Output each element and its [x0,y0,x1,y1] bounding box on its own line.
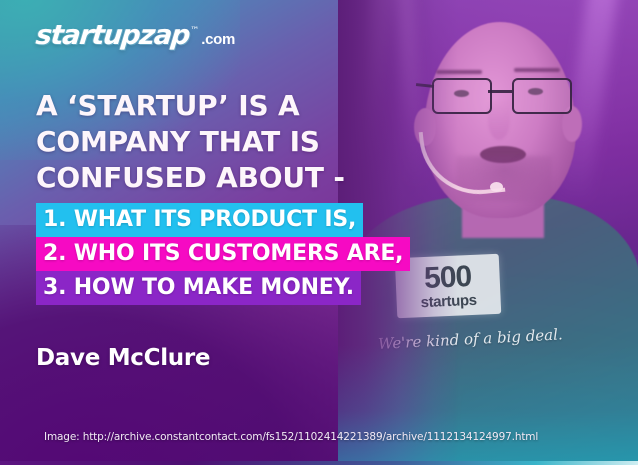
list-item: 2. WHO ITS CUSTOMERS ARE, [36,237,410,271]
quote-author: Dave McClure [36,345,210,371]
image-credit: Image: http://archive.constantcontact.co… [44,431,538,443]
quote-list: 1. WHAT ITS PRODUCT IS, 2. WHO ITS CUSTO… [36,203,410,305]
brand-logo-wordmark: startupzap [35,22,191,49]
list-item: 3. HOW TO MAKE MONEY. [36,271,361,305]
headline-line: CONFUSED ABOUT - [36,160,466,196]
poster-content: startupzap ™ .com A ‘STARTUP’ IS A COMPA… [0,0,638,465]
list-item: 1. WHAT ITS PRODUCT IS, [36,203,363,237]
bottom-edge-accent [0,461,638,465]
trademark-icon: ™ [190,26,199,36]
brand-logo-domain: .com [201,31,235,48]
headline-line: COMPANY THAT IS [36,124,466,160]
brand-logo[interactable]: startupzap ™ .com [36,22,235,49]
headline-line: A ‘STARTUP’ IS A [36,88,466,124]
quote-poster: 500 startups We're kind of a big deal. s… [0,0,638,465]
quote-headline: A ‘STARTUP’ IS A COMPANY THAT IS CONFUSE… [36,88,466,196]
